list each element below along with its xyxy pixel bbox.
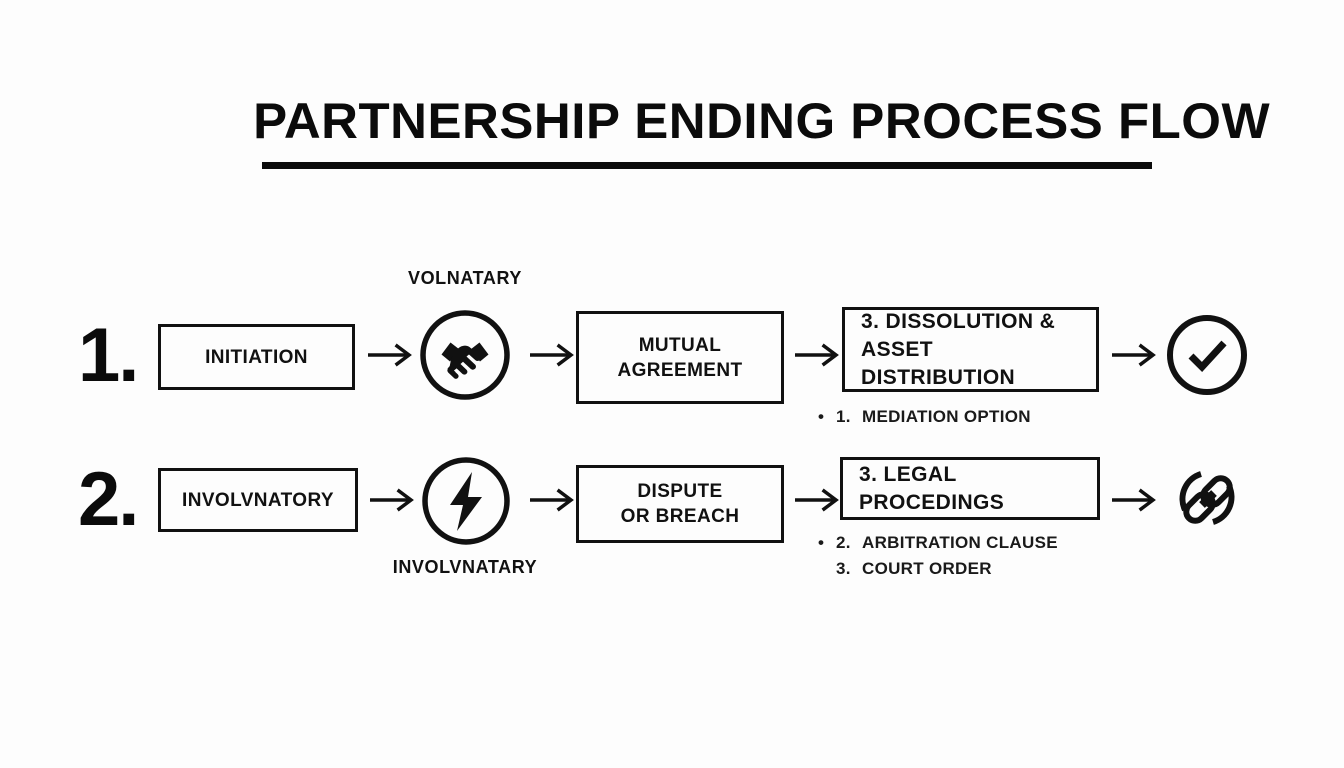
stage-box-mutual-agreement-label: MUTUAL AGREEMENT [610,333,751,383]
process-row-involuntary: 2. INVOLVNATORY INVOLVNATARY DISPUTE [0,402,1344,602]
caption-involuntary-below: INVOLVNATARY [375,557,555,578]
handshake-circle-icon [419,309,511,401]
stage-box-dispute-or-breach-label: DISPUTE OR BREACH [613,479,748,529]
outcome-box-legal-proceedings-label: 3. LEGAL PROCEDINGS [843,461,1097,517]
arrow-right-icon [366,343,418,367]
page-title: PARTNERSHIP ENDING PROCESS FLOW [253,92,1161,150]
list-item-label: COURT ORDER [862,556,992,582]
check-circle-icon [1161,309,1253,401]
list-item: • 2. ARBITRATION CLAUSE [818,530,1058,556]
lightning-bolt-circle-icon [420,455,512,547]
sub-item-list-row-2: • 2. ARBITRATION CLAUSE 3. COURT ORDER [818,530,1058,582]
stage-box-involuntary[interactable]: INVOLVNATORY [158,468,358,532]
arrow-right-icon [368,488,420,512]
caption-voluntary-above: VOLNATARY [375,268,555,289]
arrow-right-icon [793,488,845,512]
arrow-right-icon [793,343,845,367]
outcome-box-dissolution[interactable]: 3. DISSOLUTION & ASSET DISTRIBUTION [842,307,1099,392]
list-item: 3. COURT ORDER [818,556,1058,582]
stage-box-mutual-agreement[interactable]: MUTUAL AGREEMENT [576,311,784,404]
step-number-1: 1. [78,318,137,394]
list-item-label: ARBITRATION CLAUSE [862,530,1058,556]
step-number-2: 2. [78,462,137,538]
stage-box-involuntary-label: INVOLVNATORY [174,488,342,513]
broken-chain-link-icon [1161,452,1253,544]
arrow-right-icon [1110,343,1162,367]
diagram-canvas: PARTNERSHIP ENDING PROCESS FLOW 1. INITI… [0,0,1344,768]
list-item-index: 3. [836,556,862,582]
arrow-right-icon [528,488,580,512]
arrow-right-icon [1110,488,1162,512]
stage-box-dispute-or-breach[interactable]: DISPUTE OR BREACH [576,465,784,543]
title-block: PARTNERSHIP ENDING PROCESS FLOW [262,92,1152,169]
outcome-box-legal-proceedings[interactable]: 3. LEGAL PROCEDINGS [840,457,1100,520]
stage-box-initiation[interactable]: INITIATION [158,324,355,390]
outcome-box-dissolution-label: 3. DISSOLUTION & ASSET DISTRIBUTION [845,308,1096,392]
arrow-right-icon [528,343,580,367]
title-underline-rule [262,162,1152,169]
bullet-icon: • [818,530,836,556]
list-item-index: 2. [836,530,862,556]
stage-box-initiation-label: INITIATION [197,345,316,370]
